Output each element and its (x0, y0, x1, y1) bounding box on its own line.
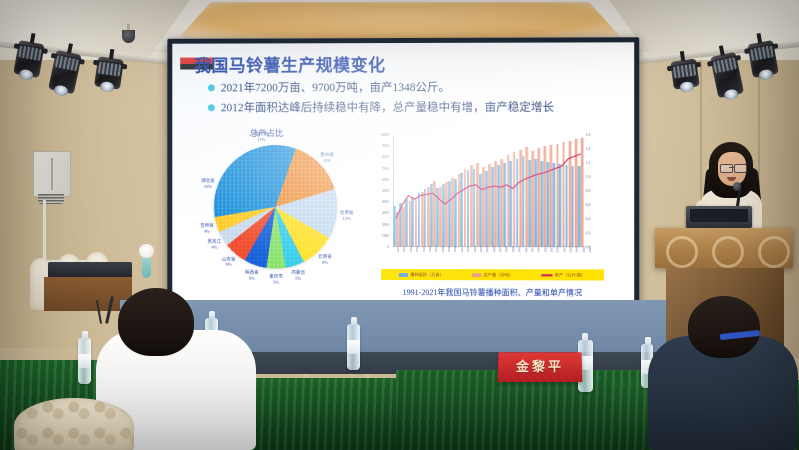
legend-item-yield: 单产（公斤/亩） (542, 272, 586, 278)
speaker-glasses-left (720, 164, 733, 173)
stage-light-right-3 (670, 58, 700, 89)
bar-chart-y-axis-right: 1.61.41.21.00.80.60.40.20.0 (584, 135, 606, 248)
y-axis-tick-label: 0.4 (586, 217, 591, 221)
pie-slice-label: 内蒙古5% (291, 270, 305, 281)
cove-light (175, 2, 625, 42)
bar-chart-y-axis-left: 1000090008000700060005000400030002000100… (369, 135, 391, 247)
bar-chart-plot (393, 135, 584, 247)
speaker-glasses-right (734, 164, 747, 173)
pie-slices (214, 145, 337, 269)
legend-item-area: 播种面积（万亩） (399, 271, 444, 277)
y-axis-tick-label: 5000 (382, 189, 389, 193)
banquet-chair-pattern (14, 398, 134, 450)
y-axis-tick-label: 1.2 (586, 161, 591, 165)
bullet-dot-icon (208, 104, 215, 111)
bullet-item-1: 2021年7200万亩、9700万吨，亩产1348公斤。 (208, 79, 450, 95)
pie-slice-label: 陕西省6% (245, 270, 259, 281)
y-axis-tick-label: 1.0 (586, 175, 591, 179)
flower-vase (142, 256, 151, 278)
pie-chart: 四川省17%贵州省15%甘肃省13%云南省9%内蒙古5%重庆市5%陕西省6%山东… (200, 139, 351, 291)
y-axis-tick-label: 0.2 (586, 231, 591, 235)
y-axis-tick-label: 0 (387, 245, 389, 249)
screenshot-root: 我国马铃薯生产规模变化 2021年7200万亩、9700万吨，亩产1348公斤。… (0, 0, 799, 450)
name-placard: 金黎平 (498, 352, 583, 382)
y-axis-tick-label: 1000 (382, 234, 389, 238)
x-axis-tick-label: 2021 (588, 246, 610, 252)
legend-label-area: 播种面积（万亩） (410, 272, 444, 278)
pie-slice-label: 湖北省16% (201, 178, 215, 189)
y-axis-tick-label: 9000 (382, 144, 389, 148)
y-axis-tick-label: 4000 (382, 200, 389, 204)
y-axis-tick-label: 6000 (382, 178, 389, 182)
bullet-dot-icon (208, 84, 215, 91)
pie-slice-label: 吉林省4% (200, 223, 214, 234)
podium-emblem (712, 236, 744, 268)
bar-chart-legend: 播种面积（万亩） 总产量（万吨） 单产（公斤/亩） (381, 269, 604, 281)
slide-title: 我国马铃薯生产规模变化 (194, 51, 385, 76)
laptop-screen (690, 209, 748, 222)
name-placard-text: 金黎平 (498, 352, 583, 382)
dome-camera-icon (122, 30, 135, 43)
projector-screen-frame: 我国马铃薯生产规模变化 2021年7200万亩、9700万吨，亩产1348公斤。… (167, 37, 639, 308)
chart-caption: 1991-2021年我国马铃薯播种面积、产量和单产情况 (367, 287, 618, 299)
projector-screen: 我国马铃薯生产规模变化 2021年7200万亩、9700万吨，亩产1348公斤。… (172, 42, 634, 303)
y-axis-tick-label: 10000 (380, 133, 389, 137)
bullet-text: 2012年面积达峰后持续稳中有降，总产量稳中有增，亩产稳定增长 (221, 99, 554, 116)
water-bottle (78, 338, 91, 384)
legend-swatch-area (399, 272, 408, 276)
presentation-slide: 我国马铃薯生产规模变化 2021年7200万亩、9700万吨，亩产1348公斤。… (172, 42, 634, 303)
podium-laptop (686, 206, 752, 228)
equipment-table (44, 277, 132, 311)
y-axis-tick-label: 1.6 (586, 133, 591, 137)
pie-slice-label: 贵州省15% (320, 152, 334, 163)
podium-emblem (666, 236, 698, 268)
y-axis-tick-label: 8000 (382, 155, 389, 159)
pie-slice-label: 黑龙江4% (207, 239, 221, 250)
bullet-item-2: 2012年面积达峰后持续稳中有降，总产量稳中有增，亩产稳定增长 (208, 99, 554, 116)
legend-label-yield: 单产（公斤/亩） (555, 272, 586, 278)
pie-slice-label: 四川省17% (254, 132, 268, 143)
pie-slice-label: 重庆市5% (269, 274, 283, 285)
y-axis-tick-label: 0.8 (586, 189, 591, 193)
microphone-icon (733, 182, 741, 191)
pie-slice-label: 山东省6% (222, 256, 236, 267)
y-axis-tick-label: 1.4 (586, 147, 591, 151)
bar-chart: 1000090008000700060005000400030002000100… (367, 131, 606, 282)
podium-emblem (758, 236, 790, 268)
flower-icon (139, 244, 154, 258)
wall-electrical-box (33, 151, 71, 197)
water-bottle (347, 324, 360, 370)
bullet-text: 2021年7200万亩、9700万吨，亩产1348公斤。 (221, 79, 450, 95)
stage-light-right-1 (747, 40, 779, 78)
pie-slice-label: 甘肃省13% (340, 210, 354, 221)
legend-swatch-yield (542, 274, 553, 276)
legend-item-production: 总产量（万吨） (472, 272, 512, 278)
pie-slice-label: 云南省9% (318, 254, 332, 265)
speaker-glasses-bridge (729, 167, 735, 168)
y-axis-tick-label: 3000 (382, 211, 389, 215)
y-axis-tick-label: 2000 (382, 223, 389, 227)
legend-swatch-production (472, 273, 481, 277)
legend-label-production: 总产量（万吨） (483, 272, 512, 278)
y-axis-tick-label: 0.6 (586, 203, 591, 207)
y-axis-tick-label: 7000 (382, 167, 389, 171)
stage-light-left-3 (94, 56, 124, 89)
